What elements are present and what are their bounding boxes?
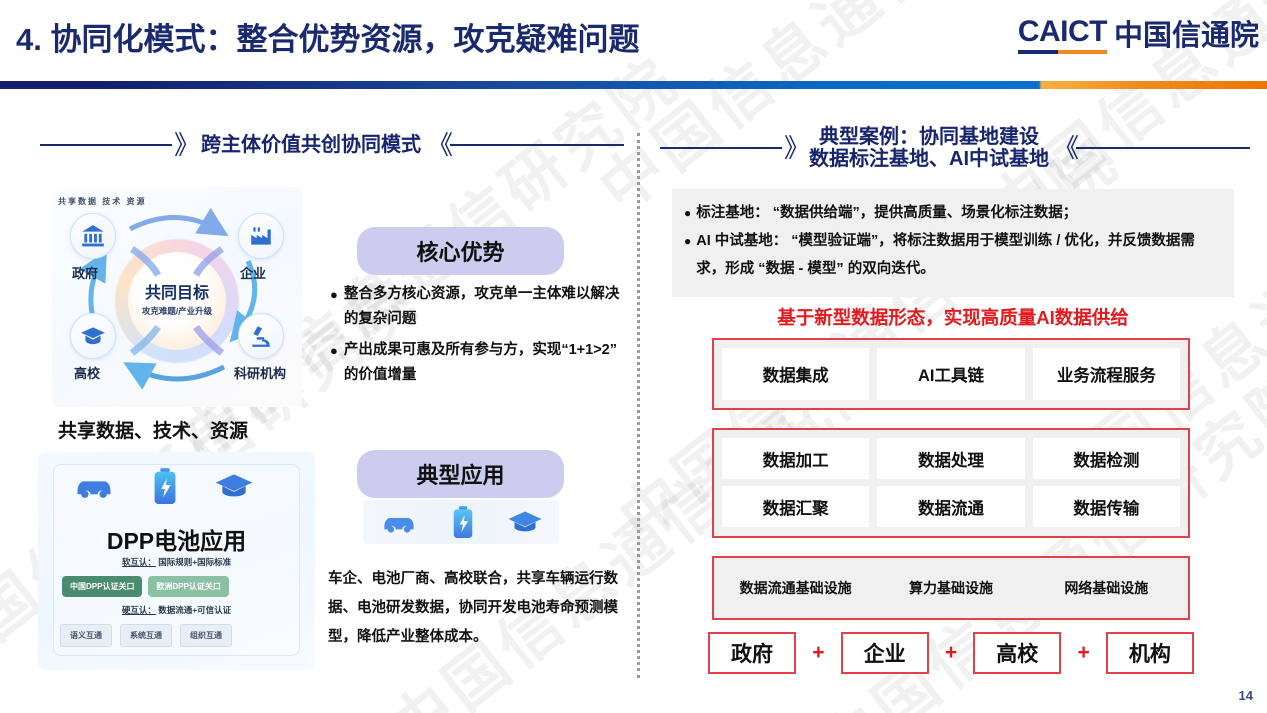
core-advantage-bullets: ● 整合多方核心资源，攻克单一主体难以解决的复杂问题 ● 产出成果可惠及所有参与… xyxy=(330,282,622,394)
caict-logo: CAICT 中国信通院 xyxy=(1018,17,1259,54)
actor-row: 政府 + 企业 + 高校 + 机构 xyxy=(708,632,1194,674)
heading-rule-left xyxy=(660,147,782,149)
node-label-research: 科研机构 xyxy=(234,363,286,382)
dpp-soft-value: 国际规则+国际标准 xyxy=(158,557,231,567)
bank-icon xyxy=(80,223,106,249)
node-research-institute xyxy=(238,313,284,359)
case-note-item: ● AI 中试基地： “模型验证端”，将标注数据用于模型训练 / 优化，并反馈数… xyxy=(684,227,1222,283)
collaboration-circle-graphic: 共同目标 攻克难题/产业升级 xyxy=(52,187,302,407)
bullet-dot-icon: ● xyxy=(330,338,338,363)
actor-government: 政府 xyxy=(708,632,796,674)
plus-sign-icon: + xyxy=(945,641,957,665)
bullet-dot-icon: ● xyxy=(330,282,338,307)
dpp-soft-label: 软互认： xyxy=(122,557,156,567)
right-section-heading: 》 典型案例：协同基地建设 数据标注基地、AI中试基地 《 xyxy=(660,126,1250,171)
capability-row: 数据汇聚 数据流通 数据传输 xyxy=(722,486,1180,527)
infrastructure-cell: 数据流通基础设施 xyxy=(722,566,869,610)
case-note-item: ● 标注基地： “数据供给端”，提供高质量、场景化标注数据； xyxy=(684,199,1222,227)
dpp-chip: 语义互通 xyxy=(60,624,112,647)
left-section-heading: 》 跨主体价值共创协同模式 《 xyxy=(40,132,624,158)
logo-acronym: CAICT xyxy=(1018,17,1107,47)
bullet-item: ● 产出成果可惠及所有参与方，实现“1+1>2”的价值增量 xyxy=(330,338,622,388)
capability-cell: 数据处理 xyxy=(877,438,1024,479)
graduation-cap-icon xyxy=(507,509,543,535)
case-note-text: AI 中试基地： “模型验证端”，将标注数据用于模型训练 / 优化，并反馈数据需… xyxy=(696,227,1222,283)
ai-data-supply-heading: 基于新型数据形态，实现高质量AI数据供给 xyxy=(672,304,1234,330)
node-university xyxy=(70,313,116,359)
capability-cell: 数据汇聚 xyxy=(722,486,869,527)
node-enterprise xyxy=(238,213,284,259)
node-label-university: 高校 xyxy=(74,363,100,382)
dpp-gate-china: 中国DPP认证关口 xyxy=(62,576,142,597)
logo-underline-rule xyxy=(1018,50,1107,54)
core-advantage-pill: 核心优势 xyxy=(357,227,564,275)
typical-application-pill: 典型应用 xyxy=(357,450,564,498)
infrastructure-cell: 网络基础设施 xyxy=(1033,566,1180,610)
capability-cell: 数据检测 xyxy=(1033,438,1180,479)
dpp-gate-row: 中国DPP认证关口 欧洲DPP认证关口 xyxy=(62,576,229,597)
logo-chinese-name: 中国信通院 xyxy=(1114,22,1259,54)
capability-box-tier2: 数据加工 数据处理 数据检测 数据汇聚 数据流通 数据传输 xyxy=(712,428,1190,538)
right-section-title-line1: 典型案例：协同基地建设 xyxy=(809,126,1049,148)
circle-ring-inner: 共同目标 攻克难题/产业升级 xyxy=(128,252,226,350)
case-note-panel: ● 标注基地： “数据供给端”，提供高质量、场景化标注数据； ● AI 中试基地… xyxy=(672,189,1234,297)
capability-box-tier1: 数据集成 AI工具链 业务流程服务 xyxy=(712,338,1190,410)
microscope-icon xyxy=(248,323,274,349)
capability-cell: AI工具链 xyxy=(877,348,1024,400)
circle-center-title: 共同目标 xyxy=(145,285,209,303)
slide-root: 中国信息通信研究院 中国信息通信研究院 中国信息通信研究院 中国信息通信研究院 … xyxy=(0,0,1267,713)
typical-application-text: 车企、电池厂商、高校联合，共享车辆运行数据、电池研发数据，协同开发电池寿命预测模… xyxy=(328,565,628,652)
dpp-chip: 组织互通 xyxy=(180,624,232,647)
application-icon-row xyxy=(363,500,559,544)
dpp-chip: 系统互通 xyxy=(120,624,172,647)
right-section-title-line2: 数据标注基地、AI中试基地 xyxy=(809,148,1049,170)
dpp-hard-label: 硬互认： xyxy=(122,605,156,615)
capability-row: 数据集成 AI工具链 业务流程服务 xyxy=(722,348,1180,400)
actor-institute: 机构 xyxy=(1106,632,1194,674)
capability-cell: 数据加工 xyxy=(722,438,869,479)
bullet-item: ● 整合多方核心资源，攻克单一主体难以解决的复杂问题 xyxy=(330,282,622,332)
bullet-text: 整合多方核心资源，攻克单一主体难以解决的复杂问题 xyxy=(344,282,622,332)
capability-row: 数据加工 数据处理 数据检测 xyxy=(722,438,1180,479)
battery-icon xyxy=(152,468,178,504)
right-section-title: 典型案例：协同基地建设 数据标注基地、AI中试基地 xyxy=(809,126,1049,171)
dpp-hard-recognition: 硬互认： 数据流通+可信认证 xyxy=(38,604,315,616)
actor-university: 高校 xyxy=(973,632,1061,674)
graduation-cap-icon xyxy=(214,471,254,501)
node-label-enterprise: 企业 xyxy=(240,263,266,282)
infrastructure-cell: 算力基础设施 xyxy=(877,566,1024,610)
bullet-dot-icon: ● xyxy=(684,199,691,227)
car-icon xyxy=(379,509,419,535)
heading-rule-left xyxy=(40,144,172,146)
dpp-title: DPP电池应用 xyxy=(38,522,315,556)
infrastructure-row: 数据流通基础设施 算力基础设施 网络基础设施 xyxy=(722,566,1180,610)
graduation-cap-icon xyxy=(80,323,106,349)
left-section-title: 跨主体价值共创协同模式 xyxy=(201,134,421,156)
share-resources-caption: 共享数据、技术、资源 xyxy=(58,416,248,443)
car-icon xyxy=(72,471,116,501)
capability-cell: 数据集成 xyxy=(722,348,869,400)
dpp-gate-europe: 欧洲DPP认证关口 xyxy=(148,576,228,597)
node-label-government: 政府 xyxy=(72,263,98,282)
page-title: 4. 协同化模式：整合优势资源，攻克疑难问题 xyxy=(16,14,639,59)
node-government xyxy=(70,213,116,259)
bullet-text: 产出成果可惠及所有参与方，实现“1+1>2”的价值增量 xyxy=(344,338,622,388)
page-number: 14 xyxy=(1239,688,1253,703)
dpp-chip-row: 语义互通 系统互通 组织互通 xyxy=(60,624,232,647)
infrastructure-box-tier3: 数据流通基础设施 算力基础设施 网络基础设施 xyxy=(712,556,1190,620)
bullet-dot-icon: ● xyxy=(684,227,691,255)
heading-rule-right xyxy=(450,144,624,146)
header-gradient-bar xyxy=(0,81,1267,89)
circle-micro-caption: 共享数据 技术 资源 xyxy=(58,196,146,207)
chevrons-right-icon: 》 xyxy=(784,135,805,161)
capability-cell: 数据流通 xyxy=(877,486,1024,527)
plus-sign-icon: + xyxy=(1077,641,1089,665)
heading-rule-right xyxy=(1076,147,1250,149)
dpp-hard-value: 数据流通+可信认证 xyxy=(158,605,231,615)
chevrons-right-icon: 》 xyxy=(174,132,195,158)
factory-icon xyxy=(248,223,274,249)
circle-center-subtitle: 攻克难题/产业升级 xyxy=(142,305,212,317)
battery-icon xyxy=(452,506,474,538)
plus-sign-icon: + xyxy=(812,641,824,665)
case-note-text: 标注基地： “数据供给端”，提供高质量、场景化标注数据； xyxy=(696,199,1077,227)
capability-cell: 业务流程服务 xyxy=(1033,348,1180,400)
chevrons-left-icon: 《 xyxy=(1053,135,1074,161)
column-divider xyxy=(637,133,640,678)
logo-mark: CAICT xyxy=(1018,17,1107,54)
actor-enterprise: 企业 xyxy=(841,632,929,674)
dpp-icon-row xyxy=(72,468,254,504)
dpp-soft-recognition: 软互认： 国际规则+国际标准 xyxy=(38,556,315,568)
chevrons-left-icon: 《 xyxy=(427,132,448,158)
dpp-battery-card: DPP电池应用 软互认： 国际规则+国际标准 中国DPP认证关口 欧洲DPP认证… xyxy=(38,452,315,670)
capability-cell: 数据传输 xyxy=(1033,486,1180,527)
